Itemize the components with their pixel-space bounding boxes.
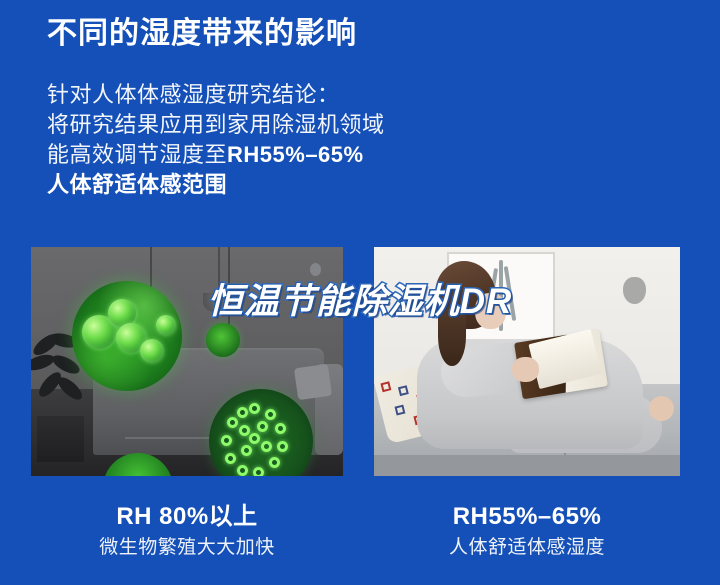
caption-title: RH55%–65%	[374, 500, 680, 534]
conclusion-line-4: 人体舒适体感范围	[47, 170, 697, 200]
virus-spike-icon	[237, 465, 248, 476]
virus-spike-icon	[241, 445, 252, 456]
virus-spike-icon	[221, 435, 232, 446]
microbe-sphere	[156, 315, 176, 335]
person-face	[475, 293, 506, 330]
conclusion-line-1: 针对人体体感湿度研究结论：	[47, 80, 697, 110]
virus-spike-icon	[253, 467, 264, 476]
branch-icon	[504, 266, 517, 321]
photo-comfort-humidity-room	[374, 247, 680, 476]
microbe-sphere	[140, 339, 164, 363]
person-foot	[649, 396, 673, 421]
person-hand	[512, 357, 540, 382]
caption-title: RH 80%以上	[31, 500, 343, 534]
caption-subtitle: 人体舒适体感湿度	[374, 534, 680, 562]
pillow-pattern-icon	[395, 405, 406, 416]
virus-spike-icon	[269, 457, 280, 468]
infographic-page: 不同的湿度带来的影响 针对人体体感湿度研究结论： 将研究结果应用到家用除湿机领域…	[0, 0, 720, 585]
wall-speaker-icon	[623, 277, 646, 304]
virus-spike-icon	[249, 433, 260, 444]
pillow-pattern-icon	[381, 382, 392, 393]
caption-comfort-humidity: RH55%–65% 人体舒适体感湿度	[374, 500, 680, 562]
header: 不同的湿度带来的影响	[47, 14, 687, 54]
caption-high-humidity: RH 80%以上 微生物繁殖大大加快	[31, 500, 343, 562]
page-title: 不同的湿度带来的影响	[47, 14, 687, 54]
conclusion-block: 针对人体体感湿度研究结论： 将研究结果应用到家用除湿机领域 能高效调节湿度至RH…	[47, 80, 697, 200]
virus-spike-icon	[239, 425, 250, 436]
virus-spike-icon	[261, 441, 272, 452]
microbe-cluster-large	[72, 281, 182, 391]
conclusion-line-3: 能高效调节湿度至RH55%–65%	[47, 140, 697, 170]
plant-pot	[37, 416, 84, 462]
virus-spike-icon	[277, 441, 288, 452]
person-hair-lock	[438, 307, 466, 367]
captions-row: RH 80%以上 微生物繁殖大大加快 RH55%–65% 人体舒适体感湿度	[0, 500, 720, 585]
leaf-icon	[54, 374, 85, 404]
sofa-cushion	[294, 364, 332, 401]
microbe-cluster-small	[206, 323, 240, 357]
virus-spike-icon	[227, 417, 238, 428]
caption-subtitle: 微生物繁殖大大加快	[31, 534, 343, 562]
virus-spike-icon	[265, 409, 276, 420]
sofa-base	[374, 455, 680, 476]
conclusion-rh-range: RH55%–65%	[227, 142, 364, 167]
photo-row	[0, 247, 720, 477]
pillow-pattern-icon	[398, 386, 409, 397]
virus-spike-icon	[237, 407, 248, 418]
photo-high-humidity-room	[31, 247, 343, 476]
virus-spike-icon	[225, 453, 236, 464]
virus-spike-icon	[257, 421, 268, 432]
virus-spike-icon	[249, 403, 260, 414]
virus-spike-icon	[275, 423, 286, 434]
conclusion-line-3-prefix: 能高效调节湿度至	[47, 142, 227, 167]
pendant-light-cord	[218, 247, 220, 297]
conclusion-line-2: 将研究结果应用到家用除湿机领域	[47, 110, 697, 140]
